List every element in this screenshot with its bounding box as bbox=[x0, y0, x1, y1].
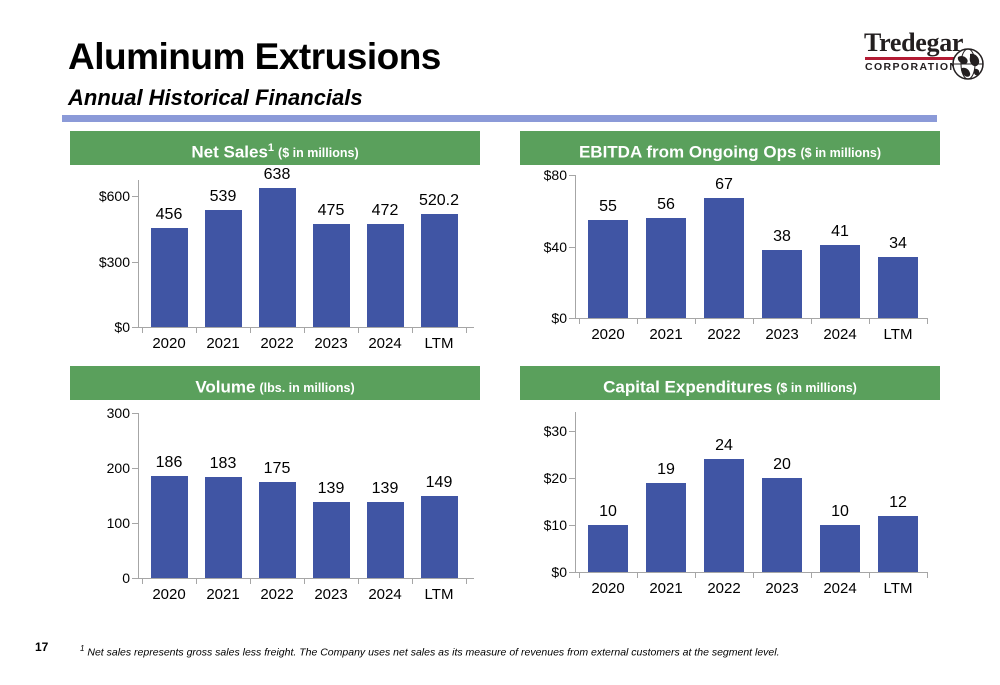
bar-2023[interactable] bbox=[313, 224, 350, 327]
y-axis-tick bbox=[569, 247, 575, 248]
x-axis-category-label: 2020 bbox=[591, 580, 624, 597]
bar-2021[interactable] bbox=[646, 483, 686, 572]
bar-value-label: 41 bbox=[831, 223, 849, 241]
bar-value-label: 24 bbox=[715, 437, 733, 455]
bar-value-label: 12 bbox=[889, 494, 907, 512]
bar-value-label: 520.2 bbox=[419, 192, 459, 210]
chart-panel-capex: Capital Expenditures($ in millions) $0$1… bbox=[520, 366, 940, 596]
chart-subtitle-text: ($ in millions) bbox=[800, 146, 881, 160]
y-axis-label: $300 bbox=[70, 254, 130, 270]
x-axis-line bbox=[138, 578, 474, 579]
x-axis-tick bbox=[579, 319, 580, 324]
chart-title-superscript: 1 bbox=[268, 142, 274, 154]
bar-value-label: 638 bbox=[264, 166, 291, 184]
chart-panel-volume: Volume(lbs. in millions) 010020030018620… bbox=[70, 366, 480, 596]
x-axis-tick bbox=[250, 579, 251, 584]
y-axis-tick bbox=[132, 578, 138, 579]
x-axis-line bbox=[575, 572, 928, 573]
bar-2022[interactable] bbox=[259, 482, 296, 578]
y-axis-tick bbox=[132, 523, 138, 524]
x-axis-tick bbox=[869, 573, 870, 578]
bar-value-label: 38 bbox=[773, 228, 791, 246]
x-axis-category-label: 2024 bbox=[823, 326, 856, 343]
x-axis-category-label: LTM bbox=[884, 580, 913, 597]
x-axis-tick bbox=[637, 319, 638, 324]
page-title: Aluminum Extrusions bbox=[68, 36, 441, 78]
x-axis-tick bbox=[466, 328, 467, 333]
y-axis-label: $30 bbox=[520, 423, 567, 439]
bar-2023[interactable] bbox=[313, 502, 350, 578]
logo-subtext: CORPORATION bbox=[865, 61, 958, 73]
x-axis-category-label: 2023 bbox=[314, 586, 347, 603]
globe-icon bbox=[952, 48, 984, 80]
x-axis-category-label: LTM bbox=[425, 335, 454, 352]
x-axis-tick bbox=[695, 319, 696, 324]
x-axis-tick bbox=[304, 579, 305, 584]
x-axis-category-label: 2020 bbox=[591, 326, 624, 343]
y-axis-label: $0 bbox=[520, 310, 567, 326]
x-axis-category-label: 2024 bbox=[823, 580, 856, 597]
bar-value-label: 456 bbox=[156, 206, 183, 224]
x-axis-tick bbox=[196, 328, 197, 333]
bar-2021[interactable] bbox=[205, 477, 242, 578]
x-axis-category-label: 2020 bbox=[152, 586, 185, 603]
x-axis-category-label: 2023 bbox=[765, 580, 798, 597]
bar-2020[interactable] bbox=[588, 220, 628, 318]
y-axis-tick bbox=[132, 468, 138, 469]
y-axis-label: 300 bbox=[70, 405, 130, 421]
bar-ltm[interactable] bbox=[878, 516, 918, 572]
x-axis-line bbox=[138, 327, 474, 328]
page-number: 17 bbox=[35, 640, 48, 654]
bar-2020[interactable] bbox=[151, 476, 188, 578]
logo-divider bbox=[865, 57, 960, 60]
logo-wordmark: Tredegar bbox=[864, 28, 963, 58]
bar-2021[interactable] bbox=[205, 210, 242, 327]
x-axis-tick bbox=[142, 579, 143, 584]
bar-2022[interactable] bbox=[704, 198, 744, 318]
x-axis-tick bbox=[927, 573, 928, 578]
x-axis-category-label: 2023 bbox=[314, 335, 347, 352]
bar-2024[interactable] bbox=[367, 502, 404, 578]
bar-value-label: 55 bbox=[599, 198, 617, 216]
x-axis-tick bbox=[358, 328, 359, 333]
bar-ltm[interactable] bbox=[421, 496, 458, 578]
page-subtitle: Annual Historical Financials bbox=[68, 85, 363, 111]
bar-2022[interactable] bbox=[259, 188, 296, 327]
x-axis-tick bbox=[811, 319, 812, 324]
x-axis-category-label: 2022 bbox=[260, 335, 293, 352]
x-axis-tick bbox=[811, 573, 812, 578]
bar-value-label: 186 bbox=[156, 454, 183, 472]
bar-2022[interactable] bbox=[704, 459, 744, 572]
y-axis-line bbox=[138, 413, 139, 579]
y-axis-tick bbox=[569, 572, 575, 573]
y-axis-line bbox=[575, 175, 576, 319]
x-axis-category-label: 2022 bbox=[707, 326, 740, 343]
x-axis-category-label: 2024 bbox=[368, 586, 401, 603]
x-axis-category-label: 2022 bbox=[260, 586, 293, 603]
bar-2020[interactable] bbox=[151, 228, 188, 327]
chart-title-volume: Volume(lbs. in millions) bbox=[70, 366, 480, 400]
x-axis-tick bbox=[753, 319, 754, 324]
footnote-marker: 1 bbox=[80, 644, 84, 653]
bar-value-label: 19 bbox=[657, 461, 675, 479]
footnote-text: Net sales represents gross sales less fr… bbox=[87, 647, 779, 659]
x-axis-tick bbox=[412, 328, 413, 333]
x-axis-category-label: 2021 bbox=[206, 586, 239, 603]
chart-panel-net-sales: Net Sales1($ in millions) $0$300$6004562… bbox=[70, 131, 480, 356]
y-axis-label: $0 bbox=[70, 319, 130, 335]
x-axis-line bbox=[575, 318, 928, 319]
bar-value-label: 139 bbox=[318, 480, 345, 498]
x-axis-tick bbox=[196, 579, 197, 584]
y-axis-label: $600 bbox=[70, 188, 130, 204]
x-axis-tick bbox=[579, 573, 580, 578]
bar-2021[interactable] bbox=[646, 218, 686, 318]
bar-2024[interactable] bbox=[820, 525, 860, 572]
y-axis-tick bbox=[569, 478, 575, 479]
y-axis-tick bbox=[132, 327, 138, 328]
y-axis-label: 100 bbox=[70, 515, 130, 531]
bar-value-label: 139 bbox=[372, 480, 399, 498]
y-axis-label: $20 bbox=[520, 470, 567, 486]
y-axis-label: $0 bbox=[520, 564, 567, 580]
bar-2024[interactable] bbox=[820, 245, 860, 318]
bar-value-label: 67 bbox=[715, 176, 733, 194]
chart-title-ebitda: EBITDA from Ongoing Ops($ in millions) bbox=[520, 131, 940, 165]
x-axis-tick bbox=[753, 573, 754, 578]
x-axis-category-label: 2021 bbox=[649, 326, 682, 343]
bar-ltm[interactable] bbox=[878, 257, 918, 318]
y-axis-label: 200 bbox=[70, 460, 130, 476]
bar-value-label: 20 bbox=[773, 456, 791, 474]
y-axis-tick bbox=[569, 318, 575, 319]
x-axis-category-label: 2020 bbox=[152, 335, 185, 352]
tredegar-logo: Tredegar CORPORATION bbox=[862, 28, 986, 80]
chart-title-text: Capital Expenditures bbox=[603, 377, 772, 396]
y-axis-line bbox=[575, 412, 576, 573]
x-axis-category-label: 2022 bbox=[707, 580, 740, 597]
x-axis-category-label: 2021 bbox=[206, 335, 239, 352]
bar-value-label: 149 bbox=[426, 474, 453, 492]
x-axis-category-label: LTM bbox=[884, 326, 913, 343]
x-axis-tick bbox=[637, 573, 638, 578]
x-axis-category-label: 2021 bbox=[649, 580, 682, 597]
bar-2023[interactable] bbox=[762, 250, 802, 318]
y-axis-tick bbox=[569, 525, 575, 526]
footnote: 1 Net sales represents gross sales less … bbox=[80, 644, 780, 659]
bar-value-label: 34 bbox=[889, 235, 907, 253]
y-axis-line bbox=[138, 180, 139, 328]
x-axis-tick bbox=[869, 319, 870, 324]
x-axis-category-label: 2023 bbox=[765, 326, 798, 343]
chart-panel-ebitda: EBITDA from Ongoing Ops($ in millions) $… bbox=[520, 131, 940, 356]
x-axis-tick bbox=[358, 579, 359, 584]
x-axis-category-label: LTM bbox=[425, 586, 454, 603]
bar-value-label: 183 bbox=[210, 455, 237, 473]
x-axis-tick bbox=[927, 319, 928, 324]
y-axis-label: $10 bbox=[520, 517, 567, 533]
y-axis-tick bbox=[569, 175, 575, 176]
bar-value-label: 472 bbox=[372, 202, 399, 220]
y-axis-tick bbox=[132, 413, 138, 414]
bar-2023[interactable] bbox=[762, 478, 802, 572]
chart-subtitle-text: ($ in millions) bbox=[278, 146, 359, 160]
chart-title-capex: Capital Expenditures($ in millions) bbox=[520, 366, 940, 400]
x-axis-category-label: 2024 bbox=[368, 335, 401, 352]
bar-2024[interactable] bbox=[367, 224, 404, 327]
bar-value-label: 10 bbox=[831, 503, 849, 521]
y-axis-tick bbox=[569, 431, 575, 432]
y-axis-label: $40 bbox=[520, 239, 567, 255]
bar-value-label: 539 bbox=[210, 188, 237, 206]
chart-title-net-sales: Net Sales1($ in millions) bbox=[70, 131, 480, 165]
y-axis-label: 0 bbox=[70, 570, 130, 586]
y-axis-tick bbox=[132, 196, 138, 197]
y-axis-tick bbox=[132, 262, 138, 263]
x-axis-tick bbox=[695, 573, 696, 578]
x-axis-tick bbox=[142, 328, 143, 333]
x-axis-tick bbox=[304, 328, 305, 333]
x-axis-tick bbox=[412, 579, 413, 584]
bar-value-label: 56 bbox=[657, 196, 675, 214]
x-axis-tick bbox=[250, 328, 251, 333]
bar-2020[interactable] bbox=[588, 525, 628, 572]
chart-title-text: Volume bbox=[195, 377, 255, 396]
chart-title-text: EBITDA from Ongoing Ops bbox=[579, 142, 797, 161]
y-axis-label: $80 bbox=[520, 167, 567, 183]
bar-value-label: 175 bbox=[264, 460, 291, 478]
chart-subtitle-text: (lbs. in millions) bbox=[259, 381, 354, 395]
bar-value-label: 10 bbox=[599, 503, 617, 521]
bar-value-label: 475 bbox=[318, 202, 345, 220]
title-divider bbox=[62, 115, 937, 122]
x-axis-tick bbox=[466, 579, 467, 584]
bar-ltm[interactable] bbox=[421, 214, 458, 327]
chart-title-text: Net Sales bbox=[191, 142, 268, 161]
chart-subtitle-text: ($ in millions) bbox=[776, 381, 857, 395]
